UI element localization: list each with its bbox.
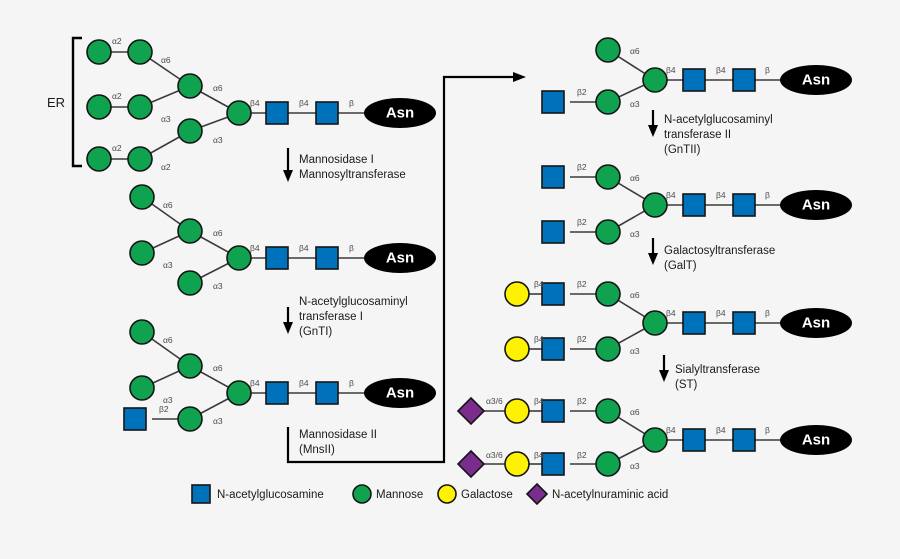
linkage-label: β4 [666, 425, 676, 435]
linkage-label: α3 [630, 346, 640, 356]
enzyme-label-line: (GnTII) [664, 144, 701, 156]
glcnac-node [542, 453, 564, 475]
linkage-label: β [349, 98, 354, 108]
mannose-node [87, 147, 111, 171]
mannose-node [596, 220, 620, 244]
mannose-node [643, 428, 667, 452]
mannose-node [128, 147, 152, 171]
legend-item-label: N-acetylglucosamine [217, 489, 324, 501]
asn-label: Asn [802, 72, 830, 89]
linkage-label: β4 [716, 425, 726, 435]
glcnac-node [683, 194, 705, 216]
glcnac-node [733, 194, 755, 216]
glcnac-node [683, 312, 705, 334]
linkage-label: α6 [163, 335, 173, 345]
mannose-node [643, 311, 667, 335]
linkage-label: α3 [630, 99, 640, 109]
asn-label: Asn [802, 197, 830, 214]
linkage-label: β [765, 65, 770, 75]
enzyme-label-line: N-acetylglucosaminyl [664, 114, 773, 126]
linkage-label: β [765, 190, 770, 200]
legend-item-label: Galactose [461, 489, 513, 501]
linkage-label: β2 [577, 396, 587, 406]
linkage-label: α2 [112, 91, 122, 101]
linkage-label: α3 [213, 135, 223, 145]
glcnac-node [266, 102, 288, 124]
mannose-node [87, 95, 111, 119]
linkage-label: α6 [213, 83, 223, 93]
linkage-label: α6 [161, 55, 171, 65]
linkage-label: β2 [577, 279, 587, 289]
linkage-label: α3 [213, 416, 223, 426]
mannose-node [227, 101, 251, 125]
linkage-label: α3 [213, 281, 223, 291]
linkage-label: β [349, 378, 354, 388]
linkage-label: β4 [534, 334, 544, 344]
glcnac-node [316, 247, 338, 269]
linkage-label: β [765, 308, 770, 318]
linkage-label: α6 [213, 228, 223, 238]
linkage-label: α6 [213, 363, 223, 373]
enzyme-label-line: transferase II [664, 129, 731, 141]
glcnac-node [733, 69, 755, 91]
glcnac-node [266, 382, 288, 404]
asn-label: Asn [802, 432, 830, 449]
enzyme-label-line: (GnTI) [299, 326, 332, 338]
linkage-label: β4 [250, 243, 260, 253]
linkage-label: β [349, 243, 354, 253]
linkage-label: α6 [630, 46, 640, 56]
mannose-node [643, 193, 667, 217]
enzyme-label-line: (GalT) [664, 260, 697, 272]
linkage-label: α6 [630, 407, 640, 417]
glcnac-node [733, 429, 755, 451]
mannose-node [128, 95, 152, 119]
linkage-label: β4 [666, 190, 676, 200]
linkage-label: β4 [666, 308, 676, 318]
mannose-node [596, 337, 620, 361]
linkage-label: α6 [630, 173, 640, 183]
galactose-node [505, 337, 529, 361]
mannose-node [227, 246, 251, 270]
enzyme-label-line: N-acetylglucosaminyl [299, 296, 408, 308]
glcnac-node [266, 247, 288, 269]
linkage-label: β4 [250, 378, 260, 388]
mannose-node [596, 399, 620, 423]
glcnac-node [733, 312, 755, 334]
linkage-label: α6 [163, 200, 173, 210]
enzyme-label-line: Mannosidase I [299, 154, 374, 166]
glcnac-node [124, 408, 146, 430]
linkage-label: α2 [161, 162, 171, 172]
enzyme-label-line: Mannosyltransferase [299, 169, 406, 181]
mannose-node [596, 282, 620, 306]
linkage-label: α2 [112, 36, 122, 46]
linkage-label: β4 [299, 98, 309, 108]
mannose-node [130, 185, 154, 209]
linkage-label: α3/6 [486, 450, 503, 460]
glcnac-node [542, 166, 564, 188]
asn-label: Asn [802, 315, 830, 332]
linkage-label: α3 [163, 260, 173, 270]
mannose-node [178, 219, 202, 243]
mannose-node [596, 38, 620, 62]
glcnac-node [683, 429, 705, 451]
enzyme-label-line: transferase I [299, 311, 363, 323]
linkage-label: β2 [577, 87, 587, 97]
enzyme-label-line: (ST) [675, 379, 698, 391]
galactose-node [505, 452, 529, 476]
linkage-label: α3 [630, 461, 640, 471]
glcnac-node [316, 382, 338, 404]
enzyme-label-line: (MnsII) [299, 444, 335, 456]
mannose-node [178, 119, 202, 143]
linkage-label: β4 [299, 243, 309, 253]
mannose-node [178, 74, 202, 98]
mannose-node [87, 40, 111, 64]
er-label: ER [47, 95, 65, 110]
linkage-label: β2 [159, 404, 169, 414]
mannose-node [130, 241, 154, 265]
asn-label: Asn [386, 105, 414, 122]
enzyme-label-line: Galactosyltransferase [664, 245, 775, 257]
mannose-node [596, 165, 620, 189]
linkage-label: β4 [666, 65, 676, 75]
linkage-label: α3 [630, 229, 640, 239]
glcnac-node [542, 221, 564, 243]
glycan-pathway-diagram: ER Asn α2 α2 α2 α6 α3 α2 α6 α3 [0, 0, 900, 559]
legend-galactose-swatch-icon [438, 485, 456, 503]
mannose-node [178, 271, 202, 295]
legend-item-label: N-acetylnuraminic acid [552, 489, 668, 501]
mannose-node [596, 452, 620, 476]
linkage-label: α3/6 [486, 396, 503, 406]
glcnac-node [316, 102, 338, 124]
legend-item-label: Mannose [376, 489, 423, 501]
mannose-node [178, 407, 202, 431]
asn-label: Asn [386, 250, 414, 267]
enzyme-label-line: Sialyltransferase [675, 364, 760, 376]
linkage-label: β4 [534, 279, 544, 289]
linkage-label: β4 [716, 308, 726, 318]
legend-mannose-swatch-icon [353, 485, 371, 503]
mannose-node [128, 40, 152, 64]
linkage-label: β [765, 425, 770, 435]
linkage-label: α2 [112, 143, 122, 153]
linkage-label: β2 [577, 162, 587, 172]
linkage-label: β2 [577, 217, 587, 227]
glcnac-node [542, 338, 564, 360]
mannose-node [130, 376, 154, 400]
linkage-label: β4 [299, 378, 309, 388]
asn-label: Asn [386, 385, 414, 402]
enzyme-label-line: Mannosidase II [299, 429, 377, 441]
mannose-node [178, 354, 202, 378]
mannose-node [596, 90, 620, 114]
linkage-label: β4 [250, 98, 260, 108]
pathway-canvas: ER Asn α2 α2 α2 α6 α3 α2 α6 α3 [0, 0, 900, 559]
mannose-node [227, 381, 251, 405]
galactose-node [505, 282, 529, 306]
mannose-node [643, 68, 667, 92]
linkage-label: β4 [716, 65, 726, 75]
linkage-label: β4 [534, 450, 544, 460]
galactose-node [505, 399, 529, 423]
linkage-label: β4 [716, 190, 726, 200]
glcnac-node [542, 400, 564, 422]
legend-glcnac-swatch-icon [192, 485, 210, 503]
linkage-label: β2 [577, 450, 587, 460]
canvas-background [0, 0, 900, 559]
linkage-label: α6 [630, 290, 640, 300]
linkage-label: β2 [577, 334, 587, 344]
mannose-node [130, 320, 154, 344]
linkage-label: α3 [161, 114, 171, 124]
glcnac-node [542, 91, 564, 113]
glcnac-node [683, 69, 705, 91]
linkage-label: β4 [534, 396, 544, 406]
glcnac-node [542, 283, 564, 305]
